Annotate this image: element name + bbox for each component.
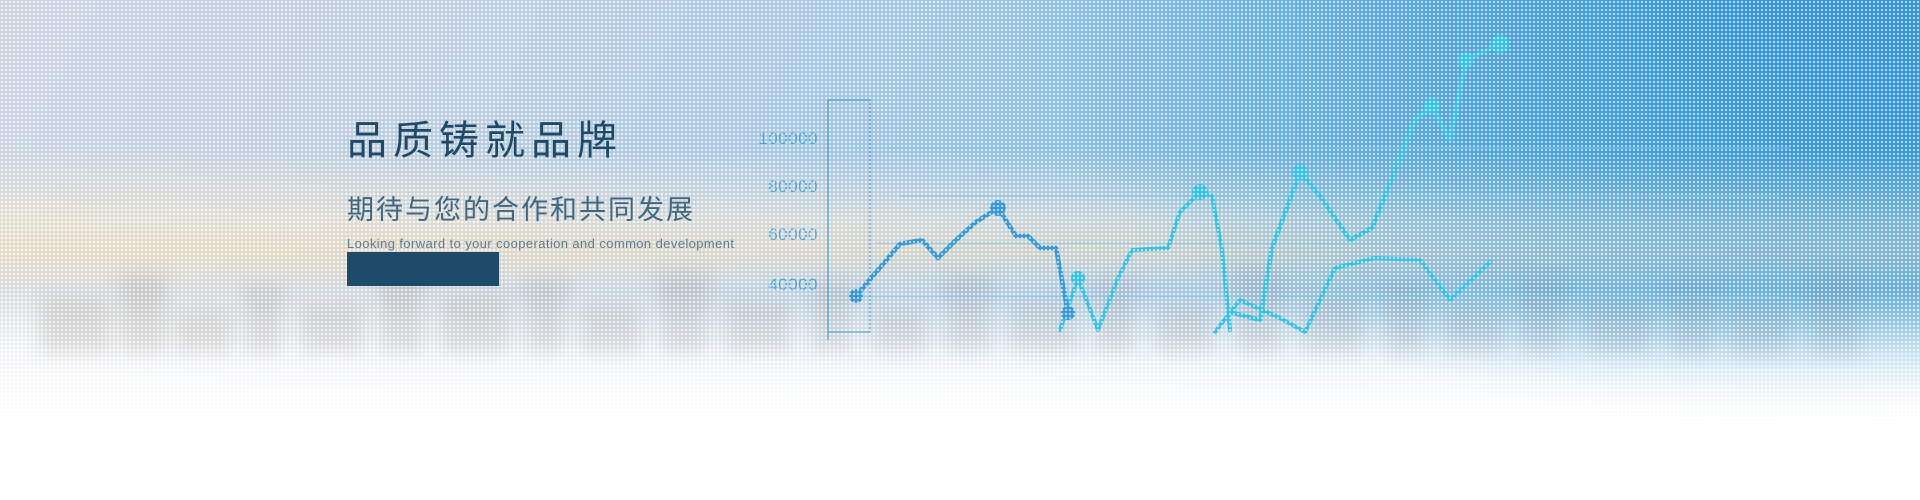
series-3-line: [1230, 44, 1500, 320]
hero-copy: 品质铸就品牌 期待与您的合作和共同发展 Looking forward to y…: [347, 118, 777, 251]
data-point: [1061, 306, 1075, 320]
line-chart: 100000 80000 60000 40000: [760, 0, 1920, 500]
page-tagline: Looking forward to your cooperation and …: [347, 236, 777, 251]
data-point: [1292, 164, 1308, 180]
page-title: 品质铸就品牌: [347, 118, 777, 164]
gridlines: [864, 148, 1790, 297]
ytick-label-40000: 40000: [768, 275, 818, 294]
page-subtitle: 期待与您的合作和共同发展: [347, 188, 777, 227]
data-point: [1424, 98, 1440, 114]
data-point-markers-light: [1071, 35, 1509, 285]
data-point: [1458, 52, 1474, 68]
hero-banner: 100000 80000 60000 40000: [0, 0, 1920, 500]
cta-button[interactable]: [347, 252, 499, 286]
data-point-markers: [849, 200, 1075, 320]
series-2-line: [1060, 192, 1230, 330]
axis-frame: [828, 100, 870, 340]
data-point: [1071, 271, 1085, 285]
data-point: [849, 289, 863, 303]
data-point: [1491, 35, 1509, 53]
data-point: [1192, 184, 1208, 200]
data-point: [990, 200, 1006, 216]
